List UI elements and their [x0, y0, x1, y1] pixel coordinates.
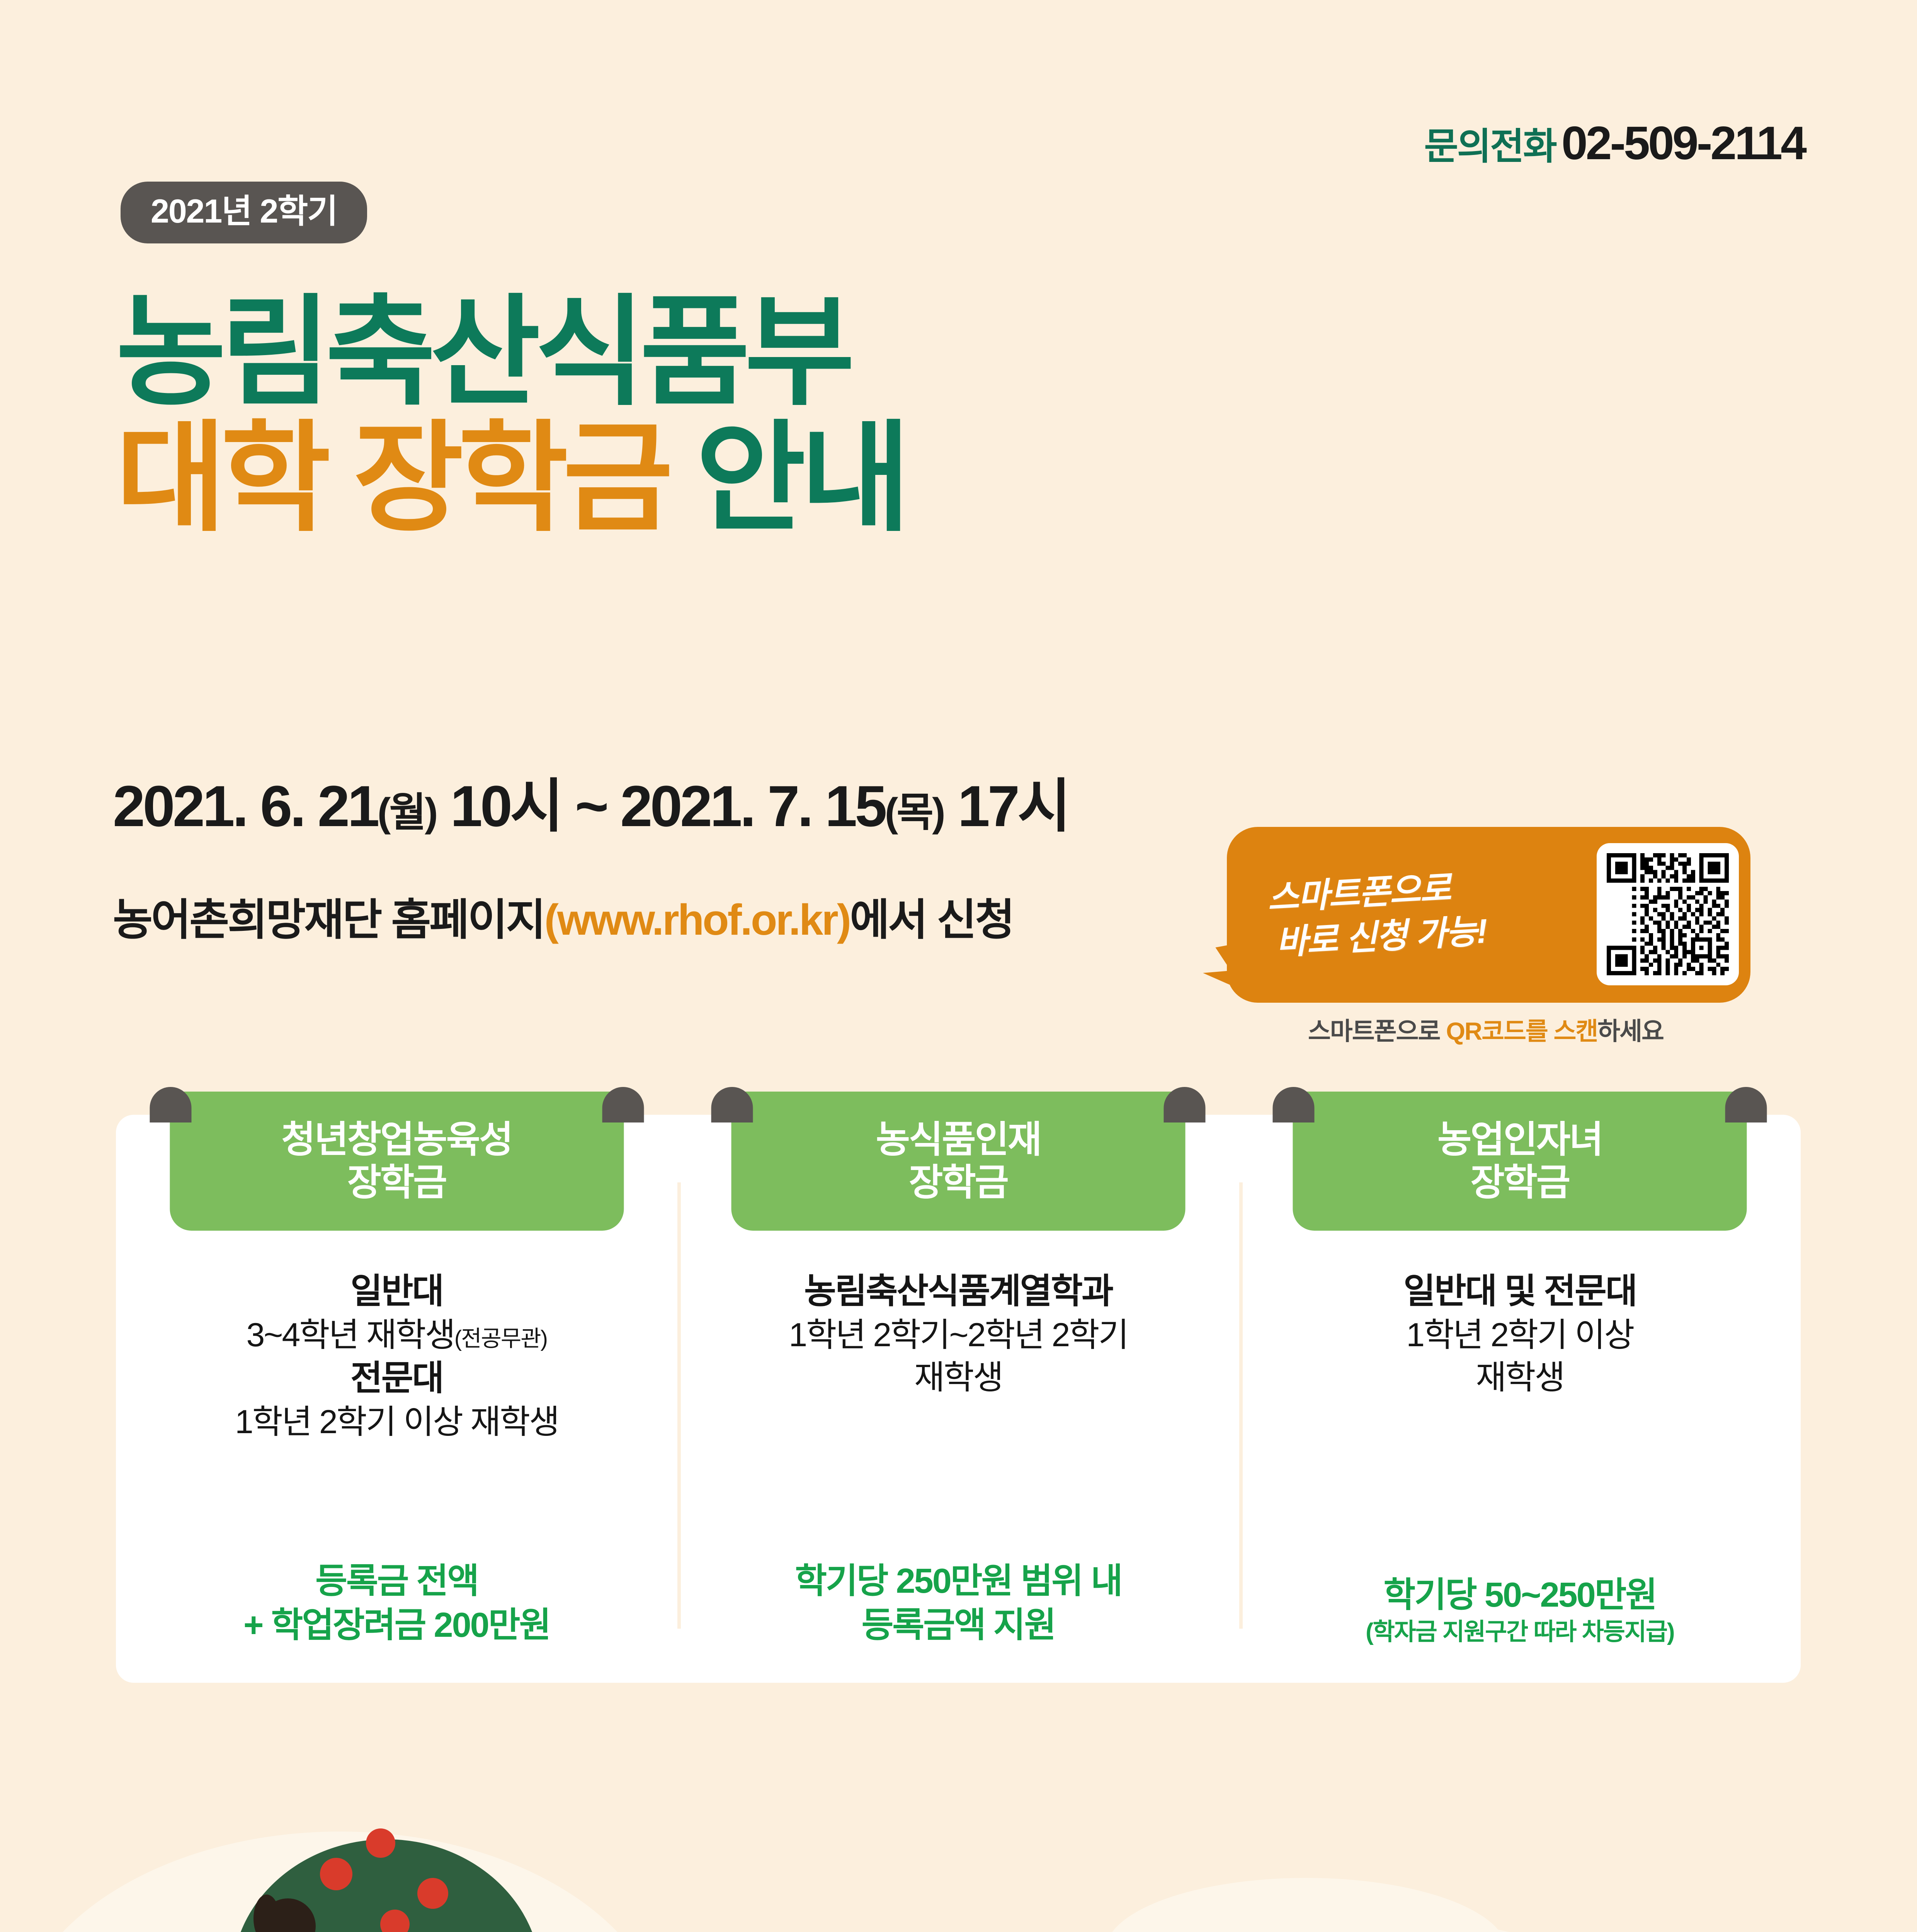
eligibility-item: 농림축산식품계열학과: [789, 1269, 1128, 1314]
apply-suffix: 에서 신청: [850, 896, 1013, 944]
scholarship-cards: 청년창업농육성 장학금 일반대 3~4학년 재학생(전공무관) 전문대 1학년 …: [116, 1115, 1801, 1683]
amount-main: 등록금 전액: [243, 1560, 550, 1603]
title-scholarship-text: 대학 장학금: [116, 411, 668, 545]
eligibility-item: 일반대: [235, 1269, 558, 1314]
title-line-ministry: 농림축산식품부: [116, 294, 905, 411]
amount-block: 등록금 전액 + 학업장려금 200만원: [243, 1560, 550, 1647]
speech-bubble: 스마트폰으로 바로 신청 가능!: [1227, 827, 1750, 1003]
bubble-line-1: 스마트폰으로: [1266, 869, 1451, 917]
farm-illustration: [0, 1708, 1917, 1932]
amount-block: 학기당 50~250만원 (학자금 지원구간 따라 차등지급): [1366, 1573, 1674, 1648]
qr-code[interactable]: [1597, 843, 1739, 985]
amount-block: 학기당 250만원 범위 내 등록금액 지원: [795, 1560, 1122, 1647]
eligibility-note: (전공무관): [454, 1326, 547, 1351]
contact-phone: 문의전화 02-509-2114: [1424, 116, 1805, 170]
amount-main-2: 등록금액 지원: [795, 1604, 1122, 1647]
eligibility-item: 1학년 2학기 이상 재학생: [235, 1401, 558, 1443]
eligibility-item: 재학생: [789, 1356, 1128, 1399]
title-line-subject: 대학 장학금 안내: [116, 420, 905, 537]
amount-sub: (학자금 지원구간 따라 차등지급): [1366, 1617, 1674, 1647]
title-ministry-text: 농림축산식품부: [116, 285, 849, 419]
card-header: 농업인자녀 장학금: [1293, 1092, 1747, 1231]
eligibility-text: 3~4학년 재학생: [246, 1316, 454, 1354]
application-site: 농어촌희망재단 홈페이지(www.rhof.or.kr)에서 신청: [113, 885, 1013, 947]
contact-label: 문의전화: [1424, 116, 1556, 170]
card-header: 농식품인재 장학금: [731, 1092, 1185, 1231]
qr-section: 스마트폰으로 바로 신청 가능!: [1200, 827, 1772, 1028]
qr-caption: 스마트폰으로 QR코드를 스캔하세요: [1200, 1012, 1772, 1047]
card-title-line1: 청년창업농육성: [281, 1118, 512, 1161]
card-title-line1: 농식품인재: [876, 1118, 1041, 1161]
bubble-line-2: 바로 신청 가능!: [1275, 909, 1488, 965]
card-title-line2: 장학금: [909, 1161, 1008, 1204]
application-period: 2021. 6. 21(월) 10시 ~ 2021. 7. 15(목) 17시: [113, 759, 1068, 843]
amount-main: 학기당 250만원 범위 내: [795, 1560, 1122, 1603]
card-body: 일반대 및 전문대 1학년 2학기 이상 재학생 학기당 50~250만원 (학…: [1239, 1269, 1801, 1683]
semester-badge: 2021년 2학기: [121, 182, 367, 243]
period-end-date: 2021. 7. 15: [620, 774, 885, 838]
eligibility-item: 재학생: [1403, 1356, 1636, 1399]
poster-root: 문의전화 02-509-2114 2021년 2학기 농림축산식품부 대학 장학…: [0, 0, 1917, 1932]
amount-main-2: + 학업장려금 200만원: [243, 1604, 550, 1647]
eligibility-item: 일반대 및 전문대: [1403, 1269, 1636, 1314]
period-start-time: 10시: [450, 774, 561, 838]
eligibility-item: 1학년 2학기 이상: [1403, 1314, 1636, 1356]
period-tilde: ~: [561, 774, 620, 838]
amount-main: 학기당 50~250만원: [1366, 1573, 1674, 1617]
period-end-time: 17시: [958, 774, 1068, 838]
scholarship-card[interactable]: 농식품인재 장학금 농림축산식품계열학과 1학년 2학기~2학년 2학기 재학생…: [677, 1115, 1239, 1683]
scholarship-card[interactable]: 청년창업농육성 장학금 일반대 3~4학년 재학생(전공무관) 전문대 1학년 …: [116, 1115, 677, 1683]
eligibility-block: 일반대 및 전문대 1학년 2학기 이상 재학생: [1403, 1269, 1636, 1399]
period-start-dow: (월): [378, 790, 437, 835]
eligibility-block: 농림축산식품계열학과 1학년 2학기~2학년 2학기 재학생: [789, 1269, 1128, 1399]
title-guide-text: 안내: [696, 411, 905, 545]
card-body: 농림축산식품계열학과 1학년 2학기~2학년 2학기 재학생 학기당 250만원…: [677, 1269, 1239, 1683]
page-title: 농림축산식품부 대학 장학금 안내: [116, 294, 905, 537]
contact-number: 02-509-2114: [1561, 116, 1805, 170]
card-title-line2: 장학금: [1470, 1161, 1569, 1204]
qr-caption-highlight: QR코드를 스캔: [1446, 1017, 1597, 1045]
qr-caption-pre: 스마트폰으로: [1308, 1017, 1446, 1045]
period-start-date: 2021. 6. 21: [113, 774, 378, 838]
apply-url[interactable]: (www.rhof.or.kr): [544, 896, 850, 944]
eligibility-item: 3~4학년 재학생(전공무관): [235, 1314, 558, 1356]
eligibility-block: 일반대 3~4학년 재학생(전공무관) 전문대 1학년 2학기 이상 재학생: [235, 1269, 558, 1444]
card-header: 청년창업농육성 장학금: [170, 1092, 624, 1231]
bubble-script-text: 스마트폰으로 바로 신청 가능!: [1266, 864, 1488, 966]
period-end-dow: (목): [885, 790, 944, 835]
eligibility-item: 전문대: [235, 1356, 558, 1401]
apply-prefix: 농어촌희망재단 홈페이지: [113, 896, 544, 944]
card-body: 일반대 3~4학년 재학생(전공무관) 전문대 1학년 2학기 이상 재학생 등…: [116, 1269, 677, 1683]
card-title-line1: 농업인자녀: [1437, 1118, 1602, 1161]
scholarship-card[interactable]: 농업인자녀 장학금 일반대 및 전문대 1학년 2학기 이상 재학생 학기당 5…: [1239, 1115, 1801, 1683]
eligibility-item: 1학년 2학기~2학년 2학기: [789, 1314, 1128, 1356]
qr-caption-post: 하세요: [1597, 1017, 1664, 1045]
card-title-line2: 장학금: [347, 1161, 446, 1204]
